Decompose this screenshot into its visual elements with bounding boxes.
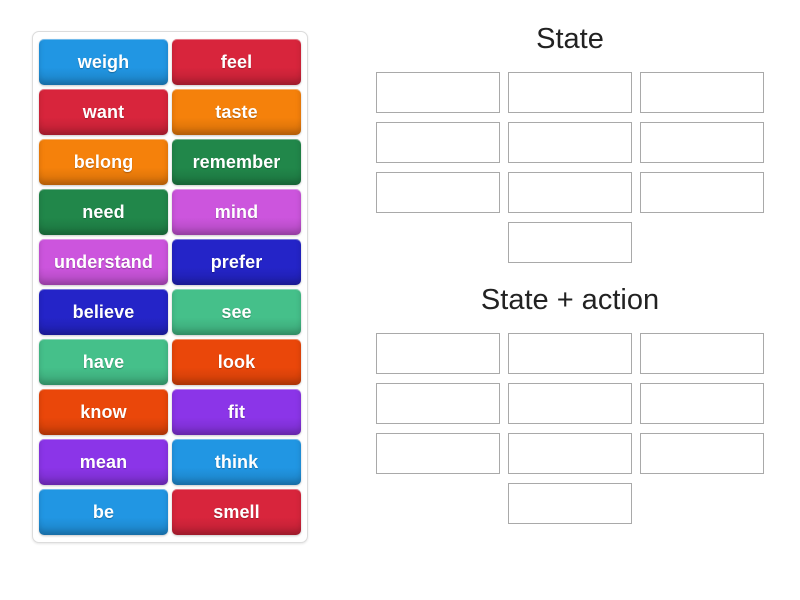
word-tile[interactable]: be (39, 489, 168, 535)
drop-zone-slot[interactable] (508, 483, 632, 524)
word-tile[interactable]: belong (39, 139, 168, 185)
drop-zone-title: State + action (370, 285, 770, 317)
word-tile[interactable]: look (172, 339, 301, 385)
drop-zone-slot[interactable] (640, 72, 764, 113)
drop-zones-region: StateState + action (340, 0, 800, 600)
drop-zone-slot[interactable] (376, 122, 500, 163)
drop-zone-slot[interactable] (508, 172, 632, 213)
word-tile-tray: weighfeelwanttastebelongrememberneedmind… (32, 31, 308, 543)
drop-zone-slot[interactable] (508, 72, 632, 113)
word-tile[interactable]: smell (172, 489, 301, 535)
drop-zone-slot[interactable] (508, 333, 632, 374)
drop-zone-slot[interactable] (640, 333, 764, 374)
drop-zone-grid (370, 72, 770, 213)
drop-zone-extra-row (370, 222, 770, 263)
word-tile[interactable]: fit (172, 389, 301, 435)
drop-zone-slot[interactable] (376, 383, 500, 424)
drop-zone-extra-row (370, 483, 770, 524)
drop-zone-slot[interactable] (508, 122, 632, 163)
word-tile[interactable]: think (172, 439, 301, 485)
drop-zone-slot[interactable] (376, 172, 500, 213)
drop-zone-slot[interactable] (640, 122, 764, 163)
drop-zone-title: State (370, 24, 770, 56)
word-tile[interactable]: mean (39, 439, 168, 485)
word-tile[interactable]: feel (172, 39, 301, 85)
word-tile[interactable]: understand (39, 239, 168, 285)
drop-zone-slot[interactable] (376, 333, 500, 374)
word-tile-grid: weighfeelwanttastebelongrememberneedmind… (39, 39, 301, 535)
word-tile[interactable]: have (39, 339, 168, 385)
word-tile[interactable]: prefer (172, 239, 301, 285)
drop-zone-slot[interactable] (640, 433, 764, 474)
drop-zone-slot[interactable] (376, 72, 500, 113)
word-tile[interactable]: remember (172, 139, 301, 185)
drop-zone-slot[interactable] (508, 222, 632, 263)
word-tile[interactable]: mind (172, 189, 301, 235)
drop-zone-slot[interactable] (640, 172, 764, 213)
drop-zone-slot[interactable] (508, 383, 632, 424)
word-tile[interactable]: want (39, 89, 168, 135)
word-tile[interactable]: know (39, 389, 168, 435)
drop-zone-section: State (370, 24, 770, 263)
drop-zone-grid (370, 333, 770, 474)
word-tile[interactable]: believe (39, 289, 168, 335)
word-tile[interactable]: weigh (39, 39, 168, 85)
word-tile[interactable]: taste (172, 89, 301, 135)
word-tile[interactable]: see (172, 289, 301, 335)
drop-zone-slot[interactable] (640, 383, 764, 424)
group-sort-activity: weighfeelwanttastebelongrememberneedmind… (0, 0, 800, 600)
drop-zone-slot[interactable] (376, 433, 500, 474)
tray-region: weighfeelwanttastebelongrememberneedmind… (0, 0, 340, 600)
drop-zone-section: State + action (370, 263, 770, 524)
drop-zone-slot[interactable] (508, 433, 632, 474)
word-tile[interactable]: need (39, 189, 168, 235)
